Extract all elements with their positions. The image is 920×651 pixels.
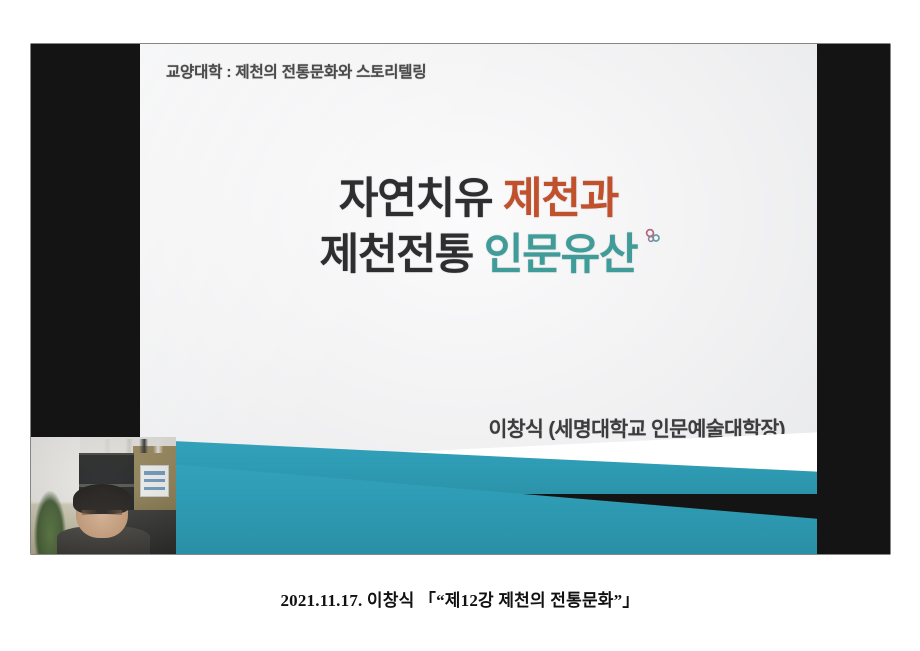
page-canvas: 교양대학 : 제천의 전통문화와 스토리텔링 자연치유 제천과 제천전통 인문유… [0,0,920,651]
slide-title-line-2-wrap: 제천전통 인문유산 [140,228,817,284]
lecture-video-frame: 교양대학 : 제천의 전통문화와 스토리텔링 자연치유 제천과 제천전통 인문유… [31,44,890,554]
dot-cluster-icon [641,210,667,236]
presentation-slide: 교양대학 : 제천의 전통문화와 스토리텔링 자연치유 제천과 제천전통 인문유… [140,44,817,494]
slide-title-line1-accent: 제천과 [503,175,618,223]
slide-title-line-1: 자연치유 제천과 [140,172,817,228]
slide-title-line1-plain: 자연치유 [339,175,503,223]
slide-title-line2-plain: 제천전통 [320,231,484,279]
slide-title-line-2: 제천전통 인문유산 [320,228,638,284]
slide-header-text: 교양대학 : 제천의 전통문화와 스토리텔링 [166,60,426,82]
figure-caption: 2021.11.17. 이창식 「“제12강 제천의 전통문화”」 [0,586,920,611]
webcam-blur-overlay [31,437,176,554]
presenter-webcam-pip[interactable] [31,437,176,554]
slide-title-block: 자연치유 제천과 제천전통 인문유산 [140,172,817,284]
slide-title-line2-accent: 인문유산 [484,231,637,279]
